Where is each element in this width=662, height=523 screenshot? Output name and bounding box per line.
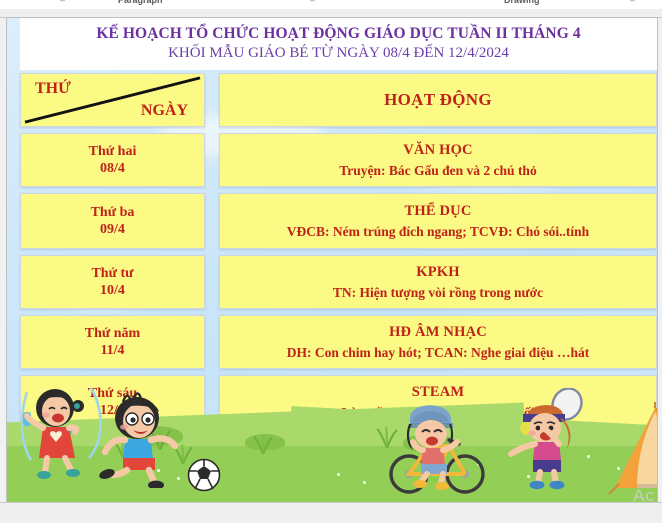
day-name: Thứ hai [89, 143, 137, 161]
slide-title-block[interactable]: KẾ HOẠCH TỔ CHỨC HOẠT ĐỘNG GIÁO DỤC TUẦN… [20, 18, 657, 70]
ribbon-dash-right: – [630, 0, 635, 5]
activity-detail: VĐCB: Ném trúng đích ngang; TCVĐ: Chó só… [287, 223, 589, 241]
activity-cell[interactable]: VĂN HỌC Truyện: Bác Gấu đen và 2 chú thỏ [219, 133, 657, 187]
ribbon-dash-middle: – [310, 0, 315, 5]
activity-title: HĐ ÂM NHẠC [389, 323, 487, 342]
activity-detail: TN: Hiện tượng vòi rồng trong nước [333, 284, 543, 302]
boy-with-soccer-ball-figure [93, 386, 191, 488]
title-line-2: KHỐI MẪU GIÁO BÉ TỪ NGÀY 08/4 ĐẾN 12/4/2… [168, 45, 509, 62]
table-header-row: THỨ NGÀY HOẠT ĐỘNG [20, 73, 657, 127]
header-label-thu: THỨ [35, 80, 71, 98]
soccer-ball-icon [187, 458, 221, 492]
activity-title: KPKH [416, 263, 460, 282]
day-date: 10/4 [100, 282, 125, 300]
header-cell-day[interactable]: THỨ NGÀY [20, 73, 205, 127]
day-cell[interactable]: Thứ năm 11/4 [20, 315, 205, 369]
flower-dot [363, 481, 366, 484]
watermark-text: Ac [633, 486, 655, 502]
header-label-ngay: NGÀY [141, 102, 188, 120]
activity-cell[interactable]: HĐ ÂM NHẠC DH: Con chim hay hót; TCAN: N… [219, 315, 657, 369]
day-name: Thứ ba [91, 204, 135, 222]
day-cell[interactable]: Thứ ba 09/4 [20, 193, 205, 249]
activity-detail: DH: Con chim hay hót; TCAN: Nghe giai đi… [287, 344, 589, 362]
day-date: 08/4 [100, 160, 125, 178]
table-row: Thứ tư 10/4 KPKH TN: Hiện tượng vòi rồng… [20, 255, 657, 309]
header-activity-label: HOẠT ĐỘNG [384, 90, 492, 110]
day-name: Thứ năm [85, 325, 140, 343]
ribbon-dash-left: – [60, 0, 65, 5]
slide-canvas[interactable]: KẾ HOẠCH TỔ CHỨC HOẠT ĐỘNG GIÁO DỤC TUẦN… [6, 17, 658, 503]
activity-detail: Truyện: Bác Gấu đen và 2 chú thỏ [339, 162, 536, 180]
day-date: 11/4 [100, 342, 124, 360]
table-row: Thứ năm 11/4 HĐ ÂM NHẠC DH: Con chim hay… [20, 315, 657, 369]
activity-title: VĂN HỌC [403, 141, 472, 160]
activity-title: THỂ DỤC [404, 202, 471, 221]
girl-on-bicycle-figure [385, 390, 489, 496]
powerpoint-window: – Paragraph – Drawing – KẾ HOẠCH TỔ CHỨC… [0, 0, 662, 523]
ribbon-group-paragraph: Paragraph [118, 0, 163, 5]
activity-cell[interactable]: THỂ DỤC VĐCB: Ném trúng đích ngang; TCVĐ… [219, 193, 657, 249]
activity-cell[interactable]: KPKH TN: Hiện tượng vòi rồng trong nước [219, 255, 657, 309]
table-row: Thứ hai 08/4 VĂN HỌC Truyện: Bác Gấu đen… [20, 133, 657, 187]
schedule-table: THỨ NGÀY HOẠT ĐỘNG Thứ hai 08/4 VĂN HỌC [20, 73, 657, 435]
grass-tuft-icon [252, 434, 274, 454]
table-row: Thứ ba 09/4 THỂ DỤC VĐCB: Ném trúng đích… [20, 193, 657, 249]
day-name: Thứ tư [91, 265, 133, 283]
flower-dot [337, 473, 340, 476]
ribbon-group-drawing: Drawing [504, 0, 540, 5]
header-cell-activity[interactable]: HOẠT ĐỘNG [219, 73, 657, 127]
day-cell[interactable]: Thứ tư 10/4 [20, 255, 205, 309]
illustration-children-playing: Ac [7, 382, 657, 502]
day-cell[interactable]: Thứ hai 08/4 [20, 133, 205, 187]
day-date: 09/4 [100, 221, 125, 239]
girl-with-badminton-racket-figure [501, 388, 605, 492]
camping-tent-icon [607, 400, 657, 496]
title-line-1: KẾ HOẠCH TỔ CHỨC HOẠT ĐỘNG GIÁO DỤC TUẦN… [96, 26, 580, 42]
status-bar [0, 502, 662, 523]
